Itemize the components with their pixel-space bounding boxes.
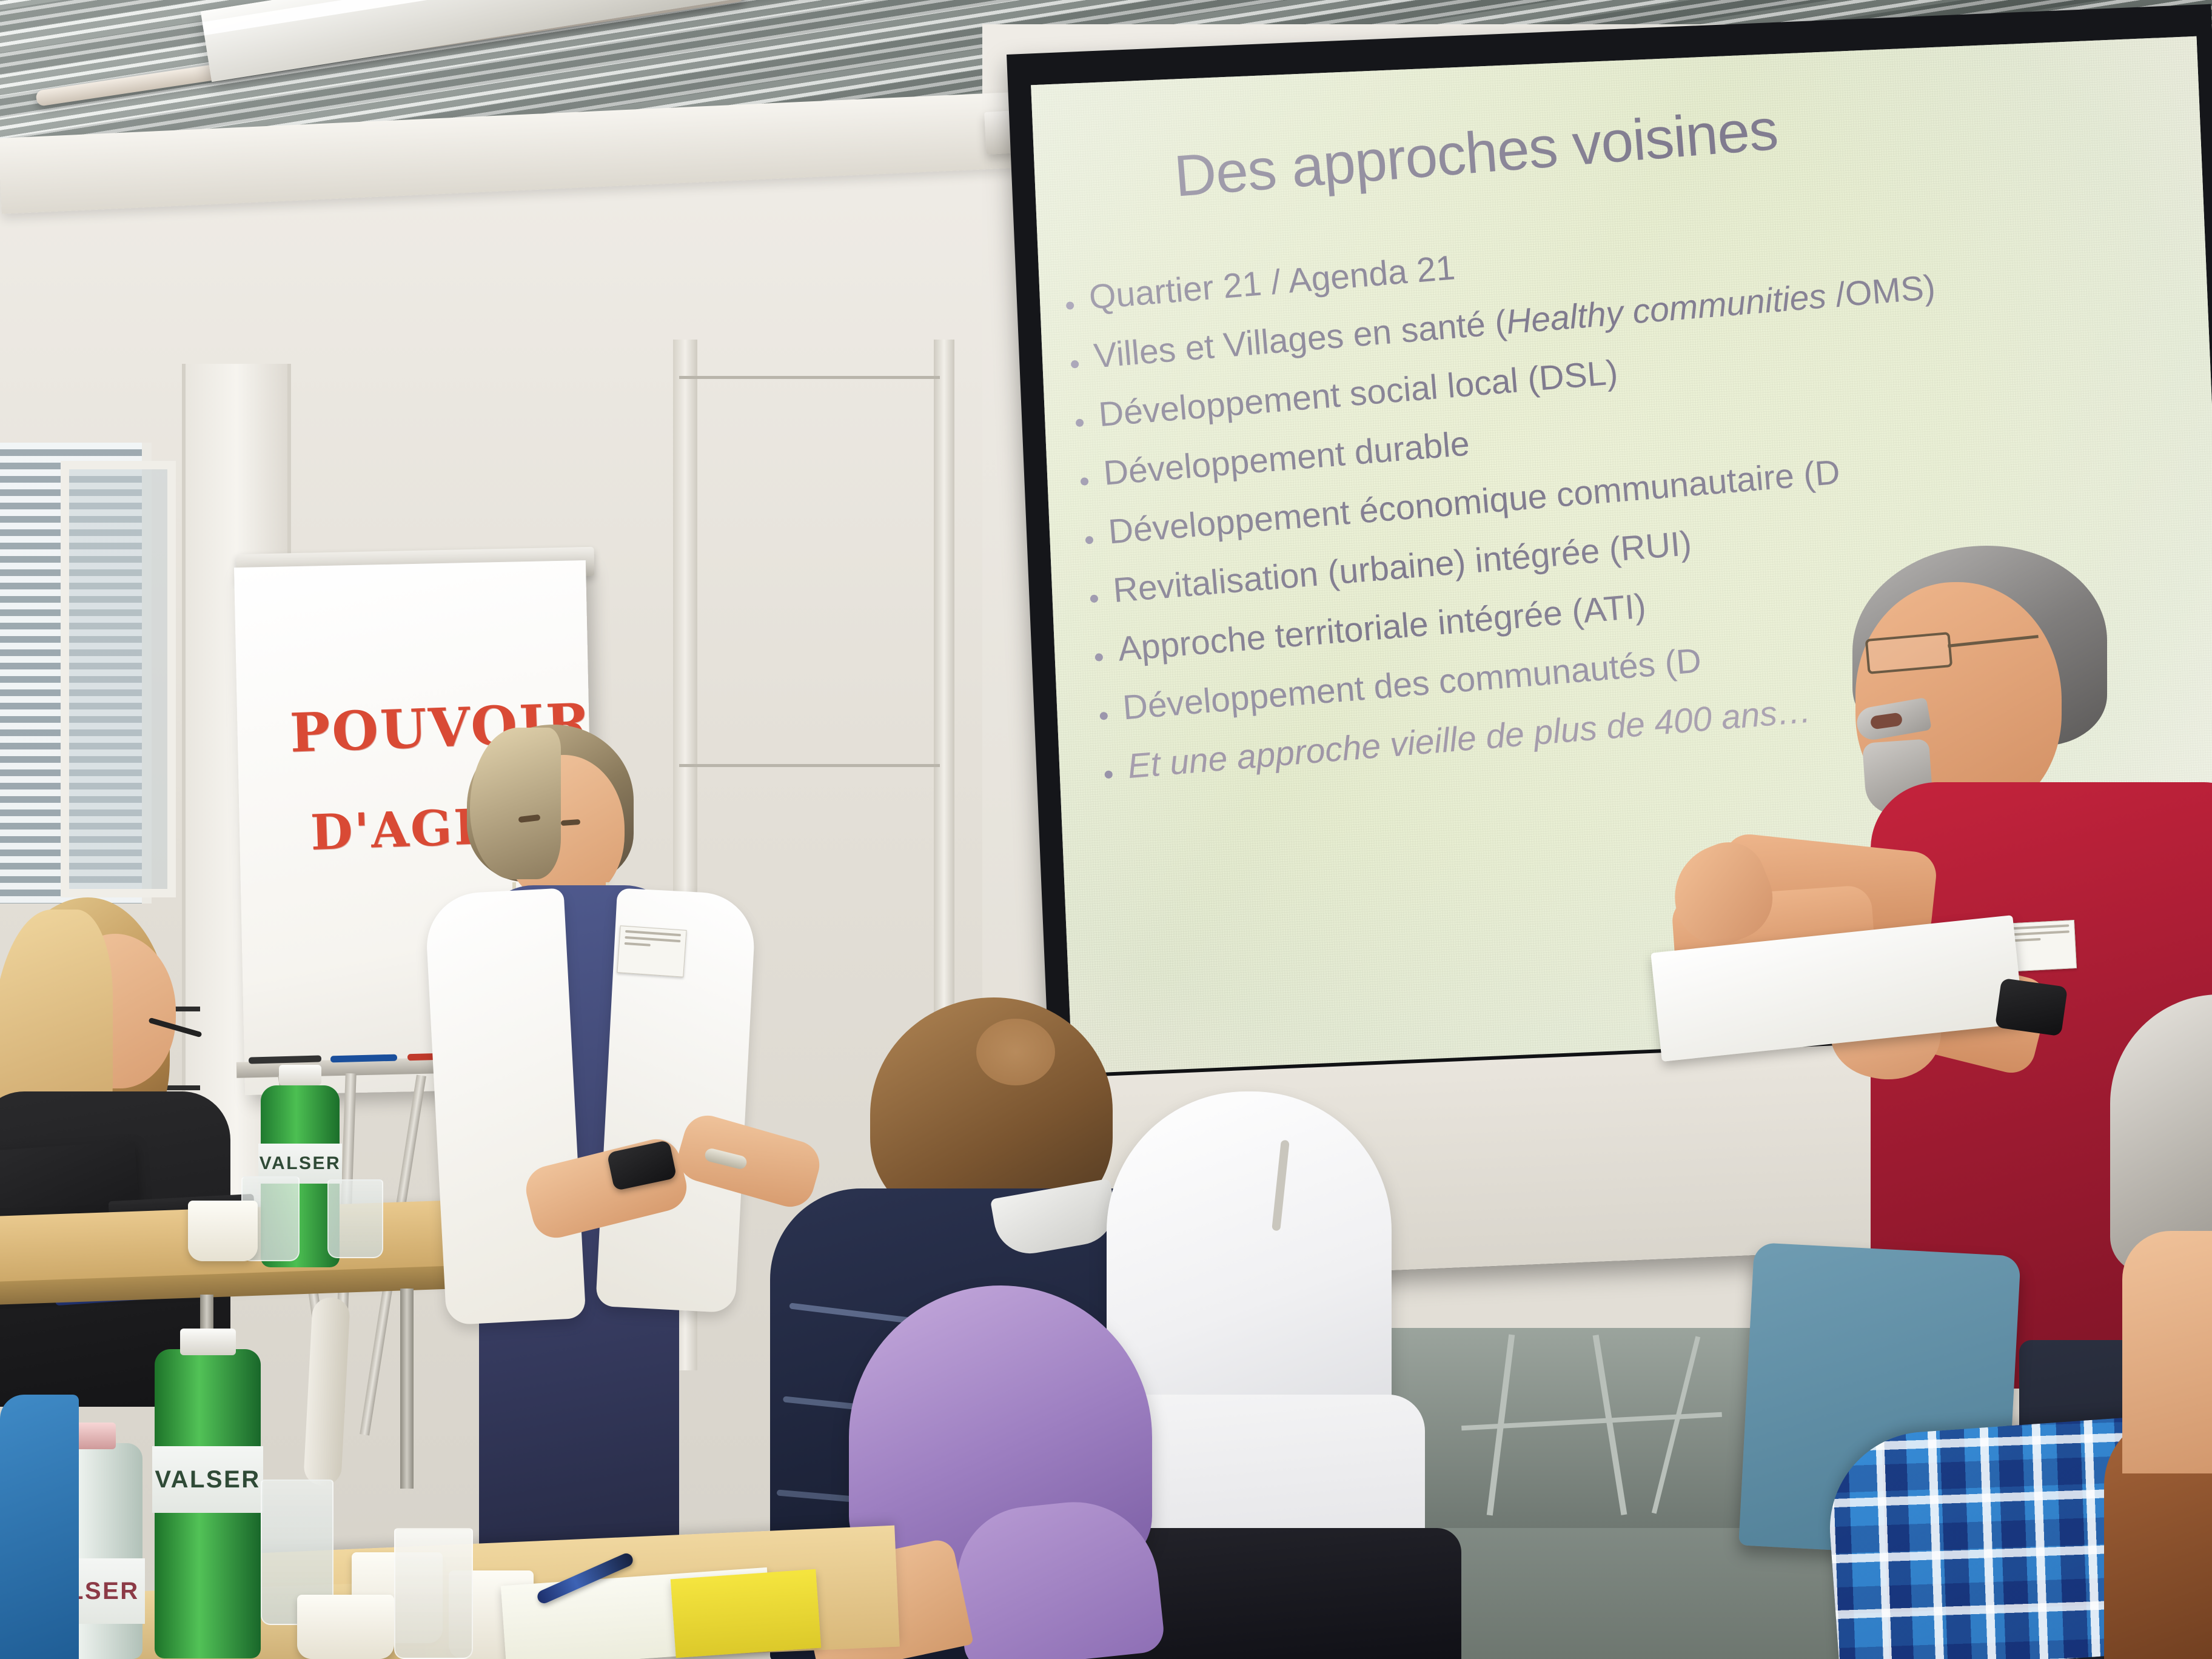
notepad-yellow[interactable] [671,1569,821,1658]
bottle-label: VALSER [152,1446,263,1513]
bullet-dot-icon [1071,360,1079,369]
person-foreground-left-sleeve [0,1395,79,1659]
water-bottle-valser-2[interactable]: VALSER [155,1349,261,1658]
slide-bullet-text: Développement durable [1102,426,1471,491]
photo-scene: Des approches voisines Quartier 21 / Age… [0,0,2212,1659]
name-badge-presenter-woman [617,925,686,977]
bottle-cap [279,1065,321,1085]
bullet-dot-icon [1066,301,1074,310]
drinking-glass-2[interactable] [327,1179,383,1258]
glasses [1865,632,1953,674]
bald-spot [976,1019,1055,1085]
wall-seam-a [679,376,940,379]
tripod-leg-2 [1593,1335,1627,1515]
bullet-dot-icon [1094,653,1103,662]
slide-title: Des approches voisines [1172,96,1780,210]
cardigan-left [424,888,586,1325]
bullet-dot-icon [1099,712,1108,720]
neck-shoulder [2122,1231,2212,1473]
bullet-dot-icon [1081,477,1089,486]
bullet-dot-icon [1085,536,1093,545]
bullet-dot-icon [1076,418,1084,427]
coffee-cup-1[interactable] [188,1201,258,1261]
bullet-dot-icon [1090,594,1098,603]
wristwatch [1995,978,2068,1037]
tripod-leg-3 [1652,1336,1700,1513]
bullet-dot-icon [1104,770,1113,779]
water-glass-front[interactable] [394,1528,473,1659]
wall-seam-b [679,764,940,767]
window-frame [61,461,176,897]
paper-cup-3[interactable] [297,1595,394,1659]
bottle-cap [180,1329,236,1355]
slide-bullet-text: Quartier 21 / Agenda 21 [1088,250,1456,315]
table-leg-right [400,1289,414,1489]
